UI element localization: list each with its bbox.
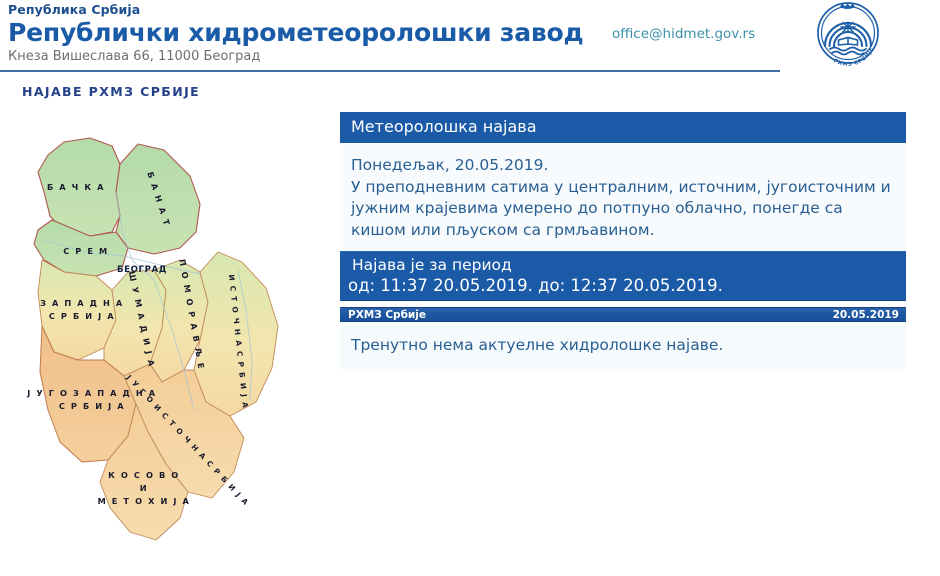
hydro-source-bar: РХМЗ Србије 20.05.2019 [340,307,906,322]
institute-address: Кнеза Вишеслава 66, 11000 Београд [8,48,628,65]
map-label-kosovo-line3: М Е Т О Х И Ј А [98,496,191,506]
map-label-backa: Б А Ч К А [47,182,105,192]
header-title-group: Република Србија Републички хидрометеоро… [8,2,628,65]
map-label-zapadna-srbija-line1: З А П А Д Н А [40,298,124,308]
hydro-message: Тренутно нема актуелне хидролошке најаве… [351,335,896,355]
meteo-announcement-header: Метеоролошка најава [340,112,906,143]
map-label-srem: С Р Е М [63,246,109,256]
map-label-kosovo-line1: К О С О В О [108,470,180,480]
validity-period-heading: Најава је за период [348,255,906,275]
map-label-kosovo-line2: И [140,483,148,493]
hydro-body-block: Тренутно нема актуелне хидролошке најаве… [340,322,906,369]
serbia-region-map: Б А Ч К А Б А Н А Т С Р Е М БЕОГРАД З А … [4,120,330,570]
map-label-jugozapadna-srbija-line2: С Р Б И Ј А [59,401,125,411]
page-header: Република Србија Републички хидрометеоро… [0,0,940,72]
header-divider [0,70,780,72]
institute-name: Републички хидрометеоролошки завод [8,18,628,47]
institute-logo-icon: РХМЗ СРБИЈЕ [800,0,896,70]
announcements-panel: Метеоролошка најава Понедељак, 20.05.201… [340,112,906,369]
meteo-body-block: Понедељак, 20.05.2019. У преподневним са… [340,143,906,251]
page-title: НАЈАВЕ РХМЗ СРБИЈЕ [22,84,200,99]
meteo-body-text: Понедељак, 20.05.2019. У преподневним са… [351,155,896,241]
hydro-source-label: РХМЗ Србије [348,309,426,321]
validity-period-range: од: 11:37 20.05.2019. до: 12:37 20.05.20… [348,275,906,296]
hydro-date-label: 20.05.2019 [833,309,899,321]
contact-email-link[interactable]: office@hidmet.gov.rs [612,26,755,42]
map-label-beograd: БЕОГРАД [117,265,167,275]
validity-period-bar: Најава је за период од: 11:37 20.05.2019… [340,251,906,301]
map-label-zapadna-srbija-line2: С Р Б И Ј А [49,311,115,321]
republic-line: Република Србија [8,2,628,17]
